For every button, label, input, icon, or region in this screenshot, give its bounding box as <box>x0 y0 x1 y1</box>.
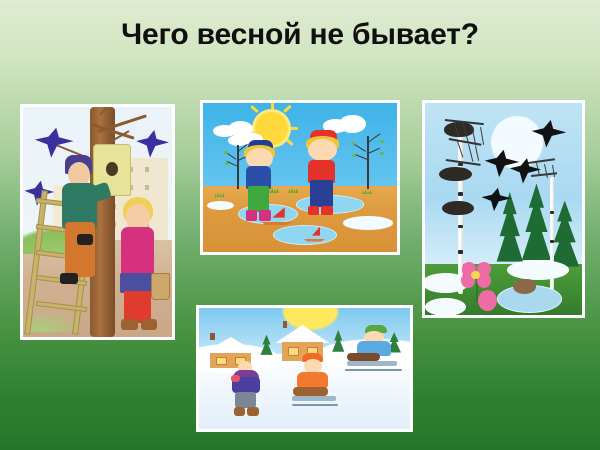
picture-sledding-scene <box>199 308 410 429</box>
snow-patch-2 <box>343 216 393 229</box>
boy-right-trousers <box>310 180 333 207</box>
boy-right-boot-2 <box>321 206 333 215</box>
girl-shoe-2 <box>141 319 157 331</box>
child-walking-left <box>229 356 271 419</box>
birch-branches-left <box>431 111 506 230</box>
paper-boat-small <box>304 227 325 242</box>
page-title: Чего весной не бывает? <box>0 18 600 52</box>
boy-right-boot-1 <box>308 206 320 215</box>
girl-coat <box>121 227 154 278</box>
picture-boats-scene <box>203 103 397 252</box>
picture-rooks[interactable] <box>422 100 585 318</box>
picture-rooks-scene <box>425 103 582 315</box>
boy-boot-1 <box>60 273 78 285</box>
pink-flower-bud <box>478 290 497 311</box>
picture-birdhouse-scene <box>23 107 172 337</box>
girl-basket <box>151 273 169 300</box>
paper-boat-large <box>261 207 292 225</box>
picture-sledding[interactable] <box>196 305 413 432</box>
picture-boats[interactable] <box>200 100 400 255</box>
boy-right-head <box>308 139 337 161</box>
slide-canvas: Чего весной не бывает? <box>0 0 600 450</box>
birch-branches-right <box>522 154 582 230</box>
boy-trousers <box>65 222 95 277</box>
bare-tree-right <box>350 136 385 190</box>
sparrow <box>513 279 537 294</box>
child-on-sled-right <box>347 325 402 383</box>
girl-shoe-1 <box>121 319 137 331</box>
child-on-sled-middle <box>292 352 338 415</box>
snow-patch-2 <box>507 260 570 280</box>
boy-boot-2 <box>77 234 93 246</box>
boy-left-boot-1 <box>246 210 258 220</box>
picture-birdhouse[interactable] <box>20 104 175 340</box>
